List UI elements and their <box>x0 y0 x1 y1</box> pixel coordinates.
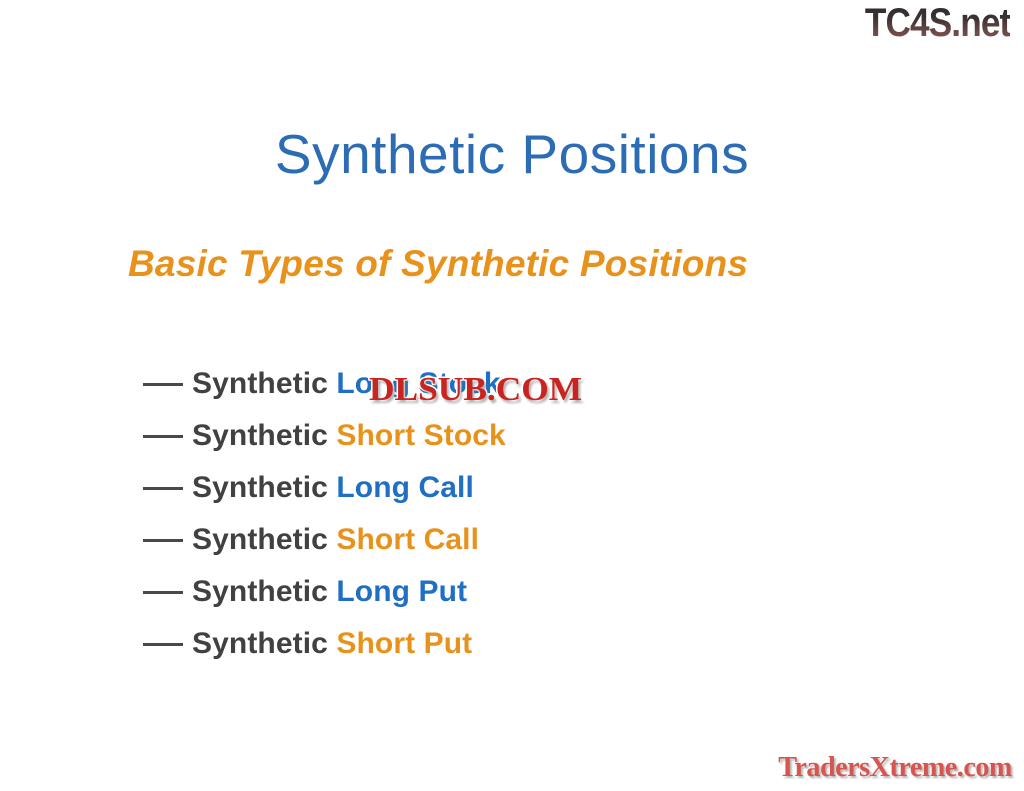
slide-canvas: TC4S.net Synthetic Positions Basic Types… <box>0 0 1024 791</box>
list-item: Synthetic Short Call <box>143 514 843 566</box>
list-item-lead: Synthetic <box>192 367 328 400</box>
list-item-lead: Synthetic <box>192 575 328 608</box>
brand-watermark-bottom-icon: TradersXtreme.com <box>778 752 1012 784</box>
page-title: Synthetic Positions <box>0 122 1024 186</box>
list-item-term: Long Put <box>336 575 467 608</box>
em-dash-bullet-icon <box>143 591 183 594</box>
page-subtitle: Basic Types of Synthetic Positions <box>128 243 748 285</box>
list-item: Synthetic Short Put <box>143 618 843 670</box>
list-item: Synthetic Short Stock <box>143 410 843 462</box>
list-item-lead: Synthetic <box>192 627 328 660</box>
list-item-term: Short Put <box>336 627 472 660</box>
list-item-lead: Synthetic <box>192 523 328 556</box>
em-dash-bullet-icon <box>143 487 183 490</box>
em-dash-bullet-icon <box>143 435 183 438</box>
overlay-watermark-icon: DLSUB.COM <box>369 372 582 409</box>
em-dash-bullet-icon <box>143 643 183 646</box>
list-item-lead: Synthetic <box>192 419 328 452</box>
list-item-term: Long Call <box>336 471 474 504</box>
em-dash-bullet-icon <box>143 539 183 542</box>
list-item-lead: Synthetic <box>192 471 328 504</box>
list-item: Synthetic Long Call <box>143 462 843 514</box>
em-dash-bullet-icon <box>143 383 183 386</box>
brand-watermark-top-icon: TC4S.net <box>864 2 1010 44</box>
list-item-term: Short Stock <box>336 419 505 452</box>
list-item-term: Short Call <box>336 523 479 556</box>
list-item: Synthetic Long Put <box>143 566 843 618</box>
